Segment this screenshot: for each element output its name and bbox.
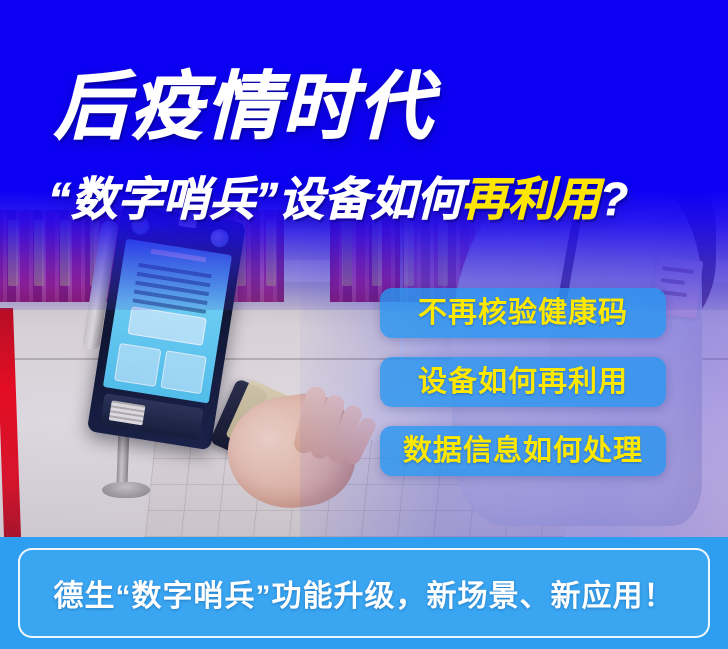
topic-pill-2[interactable]: 设备如何再利用 <box>380 357 666 407</box>
bottom-banner-box: 德生“数字哨兵”功能升级，新场景、新应用！ <box>18 548 710 638</box>
bottom-banner-text: 德生“数字哨兵”功能升级，新场景、新应用！ <box>54 571 675 615</box>
poster-root: 后疫情时代 “数字哨兵”设备如何再利用? 不再核验健康码 设备如何再利用 数据信… <box>0 0 728 649</box>
page-title: 后疫情时代 <box>54 70 434 144</box>
subtitle-highlight: 再利用 <box>462 173 600 225</box>
topic-pill-1[interactable]: 不再核验健康码 <box>380 288 666 338</box>
bottom-banner: 德生“数字哨兵”功能升级，新场景、新应用！ <box>0 537 728 649</box>
subtitle-question-mark: ? <box>600 173 628 225</box>
subtitle-prefix: “数字哨兵”设备如何 <box>48 173 462 225</box>
page-subtitle: “数字哨兵”设备如何再利用? <box>48 176 628 222</box>
topic-pill-3[interactable]: 数据信息如何处理 <box>380 426 666 476</box>
topic-pill-3-label: 数据信息如何处理 <box>403 437 643 466</box>
topic-pill-2-label: 设备如何再利用 <box>418 368 628 397</box>
photo-kiosk-base <box>102 482 150 498</box>
topic-pill-list: 不再核验健康码 设备如何再利用 数据信息如何处理 <box>380 288 666 476</box>
topic-pill-1-label: 不再核验健康码 <box>418 299 628 328</box>
